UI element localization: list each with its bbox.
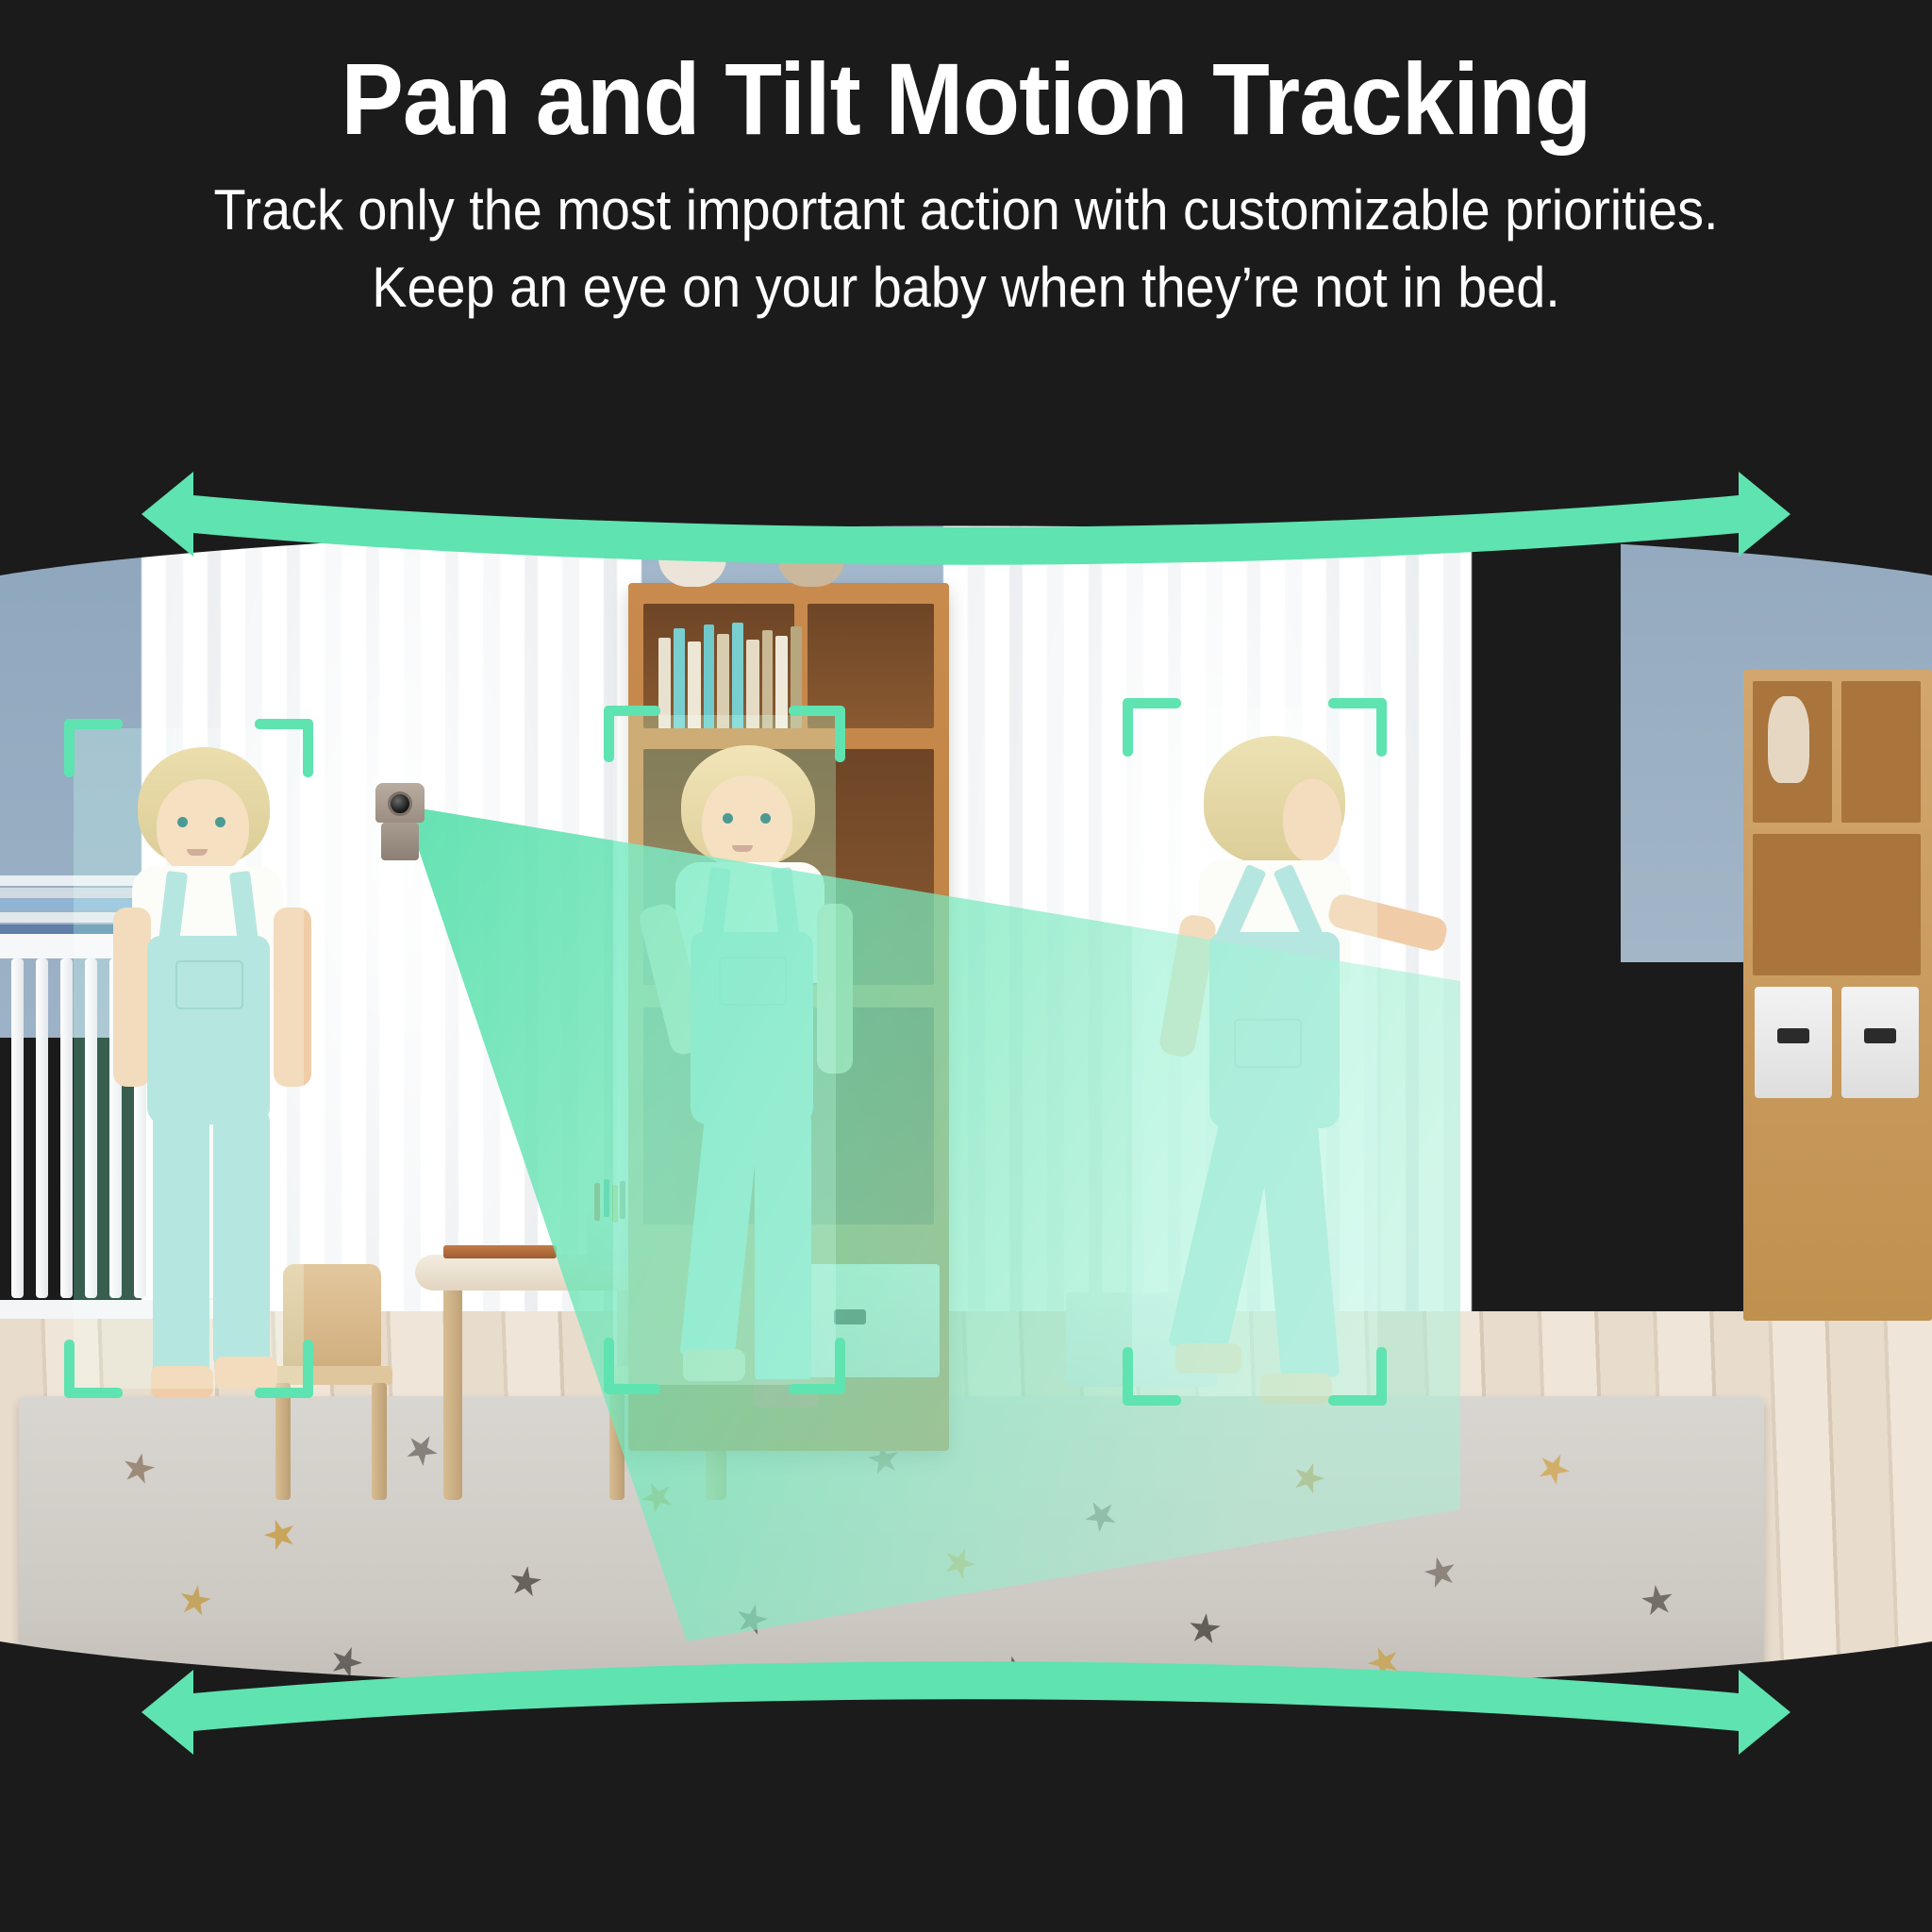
plush-toy	[1768, 696, 1809, 783]
rug-star	[1640, 1583, 1675, 1619]
baby-monitor-camera	[375, 783, 425, 860]
rug-star	[732, 1600, 771, 1639]
camera-head	[375, 783, 425, 823]
crib-bar	[36, 958, 48, 1298]
rug-star	[325, 1641, 367, 1683]
storage-bin-right-2	[1841, 987, 1919, 1098]
rug-star	[400, 1428, 443, 1472]
crib-bar	[11, 958, 24, 1298]
teddy-bear-white	[647, 509, 738, 587]
camera-lens-icon	[388, 791, 412, 816]
chair-leg	[372, 1383, 387, 1500]
bear-body	[658, 517, 727, 587]
rug-star	[508, 1564, 543, 1600]
rug-star	[996, 1652, 1036, 1691]
room-photo-stage	[0, 509, 1932, 1717]
bin-handle	[1777, 1028, 1809, 1043]
chair-leg	[609, 1383, 625, 1500]
rug-star	[260, 1515, 301, 1556]
pencil	[594, 1183, 600, 1221]
header: Pan and Tilt Motion Tracking Track only …	[0, 0, 1932, 396]
camera-base	[381, 823, 419, 860]
storage-bin-right-1	[1755, 987, 1832, 1098]
tracking-box-left[interactable]	[64, 719, 313, 1398]
rug-star	[1532, 1447, 1574, 1490]
rs-cavity-3	[1753, 834, 1921, 975]
right-shelving-unit	[1743, 670, 1932, 1321]
subtitle-line-1: Track only the most important action wit…	[68, 173, 1865, 247]
tracking-box-right[interactable]	[1123, 698, 1387, 1406]
rug-star	[1421, 1553, 1459, 1591]
rug-star	[1187, 1611, 1222, 1646]
rug-star	[176, 1582, 213, 1619]
rug-star	[120, 1450, 158, 1488]
nursery-room-scene	[0, 509, 1932, 1717]
rug-star	[1289, 1458, 1329, 1499]
table-leg	[443, 1283, 462, 1500]
rs-cavity-2	[1841, 681, 1921, 823]
teddy-bear-brown	[768, 509, 855, 587]
bin-handle	[1864, 1028, 1896, 1043]
rug-star	[939, 1542, 980, 1584]
page-title: Pan and Tilt Motion Tracking	[77, 0, 1855, 152]
rug-star	[1079, 1494, 1123, 1538]
bottom-black-bar	[0, 1706, 1932, 1932]
subtitle-line-2: Keep an eye on your baby when they’re no…	[68, 250, 1865, 325]
tracking-box-center[interactable]	[604, 706, 845, 1394]
table-book	[443, 1245, 557, 1258]
rug-star	[1363, 1641, 1405, 1683]
